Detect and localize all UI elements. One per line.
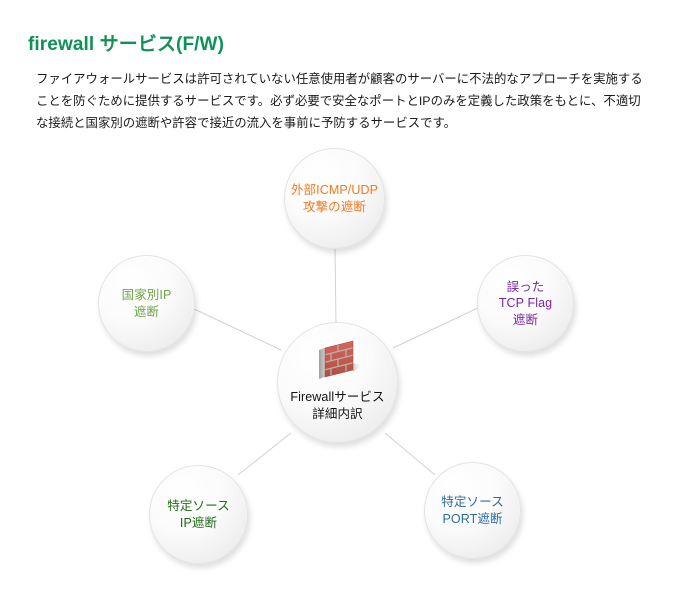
node-country-ip-block[interactable]: 国家別IP 遮断 <box>98 255 195 352</box>
node-label: 国家別IP 遮断 <box>122 287 172 320</box>
node-label: Firewallサービス 詳細内訳 <box>290 389 384 423</box>
brick-wall-firewall-icon <box>312 337 364 383</box>
connector-center-botleft <box>238 433 291 475</box>
connector-center-left <box>192 308 281 350</box>
node-invalid-tcp-flag-block[interactable]: 誤った TCP Flag 遮断 <box>477 255 574 352</box>
service-description: ファイアウォールサービスは許可されていない任意使用者が顧客のサーバーに不法的なア… <box>36 68 650 134</box>
node-label: 外部ICMP/UDP 攻撃の遮断 <box>291 182 378 215</box>
node-label: 特定ソース IP遮断 <box>167 498 229 531</box>
node-firewall-service-detail[interactable]: Firewallサービス 詳細内訳 <box>277 322 398 443</box>
connector-center-botright <box>385 433 435 475</box>
page-title: firewall サービス(F/W) <box>28 29 224 56</box>
firewall-service-diagram: 外部ICMP/UDP 攻撃の遮断 国家別IP 遮断 誤った TCP Flag 遮… <box>0 130 680 590</box>
node-specific-source-ip-block[interactable]: 特定ソース IP遮断 <box>149 465 248 564</box>
node-label: 特定ソース PORT遮断 <box>441 494 503 527</box>
node-specific-source-port-block[interactable]: 特定ソース PORT遮断 <box>424 462 521 559</box>
node-label: 誤った TCP Flag 遮断 <box>499 279 552 329</box>
connector-center-top <box>335 248 336 325</box>
node-external-icmp-udp-block[interactable]: 外部ICMP/UDP 攻撃の遮断 <box>284 148 385 249</box>
connector-center-right <box>393 307 480 348</box>
